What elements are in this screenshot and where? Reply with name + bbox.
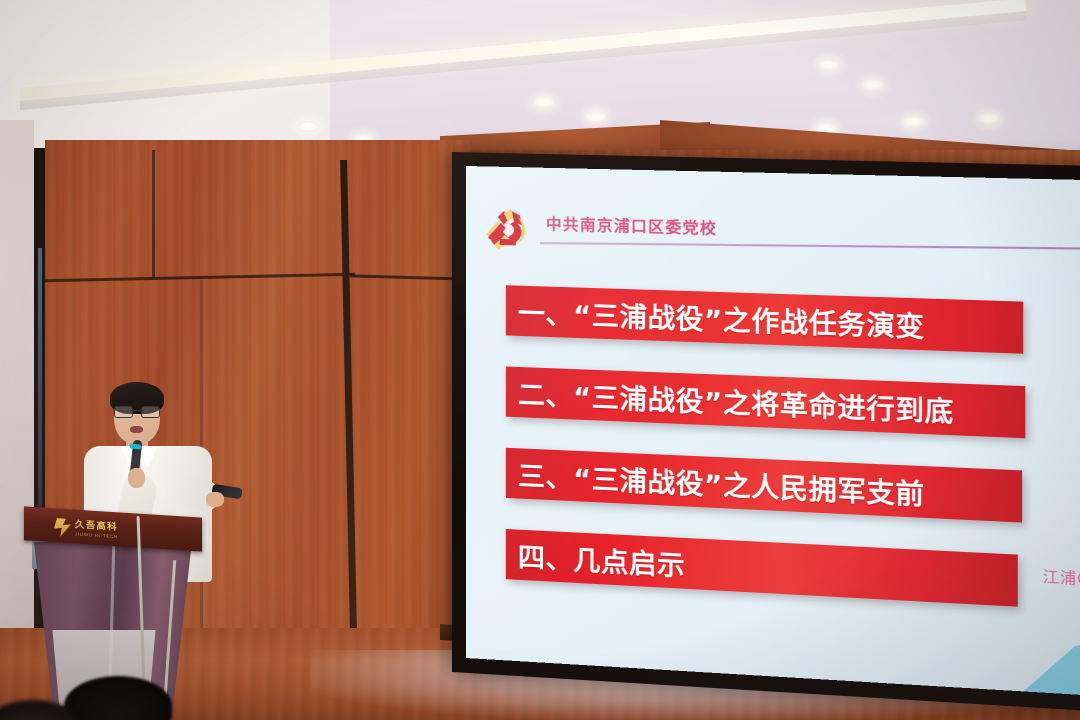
slide-side-note: 江浦〇	[1043, 565, 1080, 590]
downlight-icon	[978, 113, 1000, 124]
slide-institution-title: 中共南京浦口区委党校	[546, 212, 717, 239]
downlight-icon	[297, 121, 319, 132]
presentation-photo-scene: 中共南京浦口区委党校 一、“三浦战役”之作战任务演变 二、“三浦战役”之将革命进…	[0, 0, 1080, 720]
presentation-screen[interactable]: 中共南京浦口区委党校 一、“三浦战役”之作战任务演变 二、“三浦战役”之将革命进…	[466, 166, 1080, 697]
downlight-icon	[903, 116, 925, 127]
slide-bullet-label: 二、“三浦战役”之将革命进行到底	[506, 372, 954, 430]
downlight-icon	[862, 79, 884, 90]
slide-bullet-label: 三、“三浦战役”之人民拥军支前	[506, 453, 925, 512]
slide-bullet-item: 三、“三浦战役”之人民拥军支前	[506, 448, 1022, 523]
slide-bullet-list: 一、“三浦战役”之作战任务演变 二、“三浦战役”之将革命进行到底 三、“三浦战役…	[506, 285, 1069, 642]
slide-bullet-label: 四、几点启示	[506, 535, 685, 584]
title-divider-rule	[540, 242, 1080, 249]
wall-seam-blue-reflection	[38, 248, 42, 548]
slide-bullet-label: 一、“三浦战役”之作战任务演变	[506, 291, 925, 345]
presenter-mouth	[130, 426, 143, 433]
podium-logo-en: JIUWU HI-TECH	[75, 532, 118, 539]
slide-bullet-item: 一、“三浦战役”之作战任务演变	[506, 285, 1023, 353]
ccp-party-emblem-icon	[478, 204, 534, 256]
jiuwu-logo-icon	[54, 518, 71, 538]
presenter-left-hand	[128, 468, 145, 488]
downlight-icon	[585, 111, 607, 122]
microphone-band	[130, 443, 141, 449]
slide-bullet-item: 四、几点启示	[506, 529, 1018, 607]
panel-seam-vertical	[152, 150, 155, 278]
downlight-icon	[818, 59, 840, 70]
downlight-icon	[533, 97, 555, 108]
eyeglasses-icon	[114, 406, 160, 416]
slide-bullet-item: 二、“三浦战役”之将革命进行到底	[506, 367, 1025, 439]
presenter-right-hand	[206, 492, 224, 507]
